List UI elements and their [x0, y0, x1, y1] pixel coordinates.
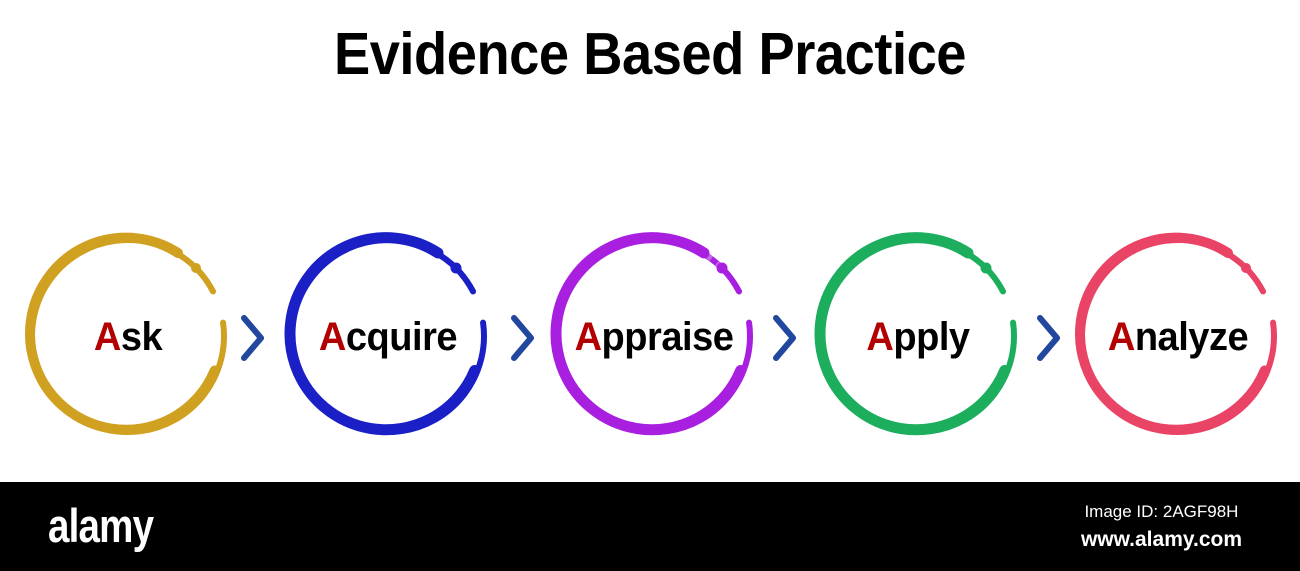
ring-apply	[818, 222, 1018, 452]
accent-arc-icon	[556, 238, 748, 430]
alamy-logo: alamy	[48, 498, 153, 554]
ring-acquire	[288, 222, 488, 452]
watermark-url[interactable]: www.alamy.com	[1081, 526, 1242, 554]
ring-outline-icon	[20, 228, 237, 445]
ring-analyze	[1078, 222, 1278, 452]
ring-outline-icon	[810, 228, 1027, 445]
chevron-right-icon	[1034, 312, 1064, 364]
accent-arc-icon	[30, 238, 222, 430]
connector-chevron-4	[1034, 312, 1064, 364]
accent-arc-icon	[290, 238, 482, 430]
page-title: Evidence Based Practice	[52, 18, 1248, 90]
process-flow: Ask Acquire	[0, 222, 1300, 452]
watermark-bar: alamy Image ID: 2AGF98H www.alamy.com	[0, 482, 1300, 571]
accent-arc-icon	[1080, 238, 1272, 430]
ring-outline-icon	[280, 228, 497, 445]
chevron-right-icon	[508, 312, 538, 364]
ring-appraise	[554, 222, 754, 452]
process-step-appraise[interactable]: Appraise	[554, 222, 754, 452]
watermark-info: Image ID: 2AGF98H www.alamy.com	[1081, 500, 1242, 554]
ring-outline-icon	[1070, 228, 1287, 445]
accent-arc-icon	[820, 238, 1012, 430]
connector-chevron-2	[508, 312, 538, 364]
connector-chevron-1	[238, 312, 268, 364]
connector-chevron-3	[770, 312, 800, 364]
chevron-right-icon	[770, 312, 800, 364]
ring-ask	[28, 222, 228, 452]
process-step-ask[interactable]: Ask	[28, 222, 228, 452]
process-step-acquire[interactable]: Acquire	[288, 222, 488, 452]
ring-outline-icon	[546, 228, 763, 445]
diagram-canvas: Evidence Based Practice Ask Acquire	[0, 0, 1300, 571]
chevron-right-icon	[238, 312, 268, 364]
watermark-image-id: Image ID: 2AGF98H	[1081, 500, 1242, 524]
process-step-apply[interactable]: Apply	[818, 222, 1018, 452]
process-step-analyze[interactable]: Analyze	[1078, 222, 1278, 452]
